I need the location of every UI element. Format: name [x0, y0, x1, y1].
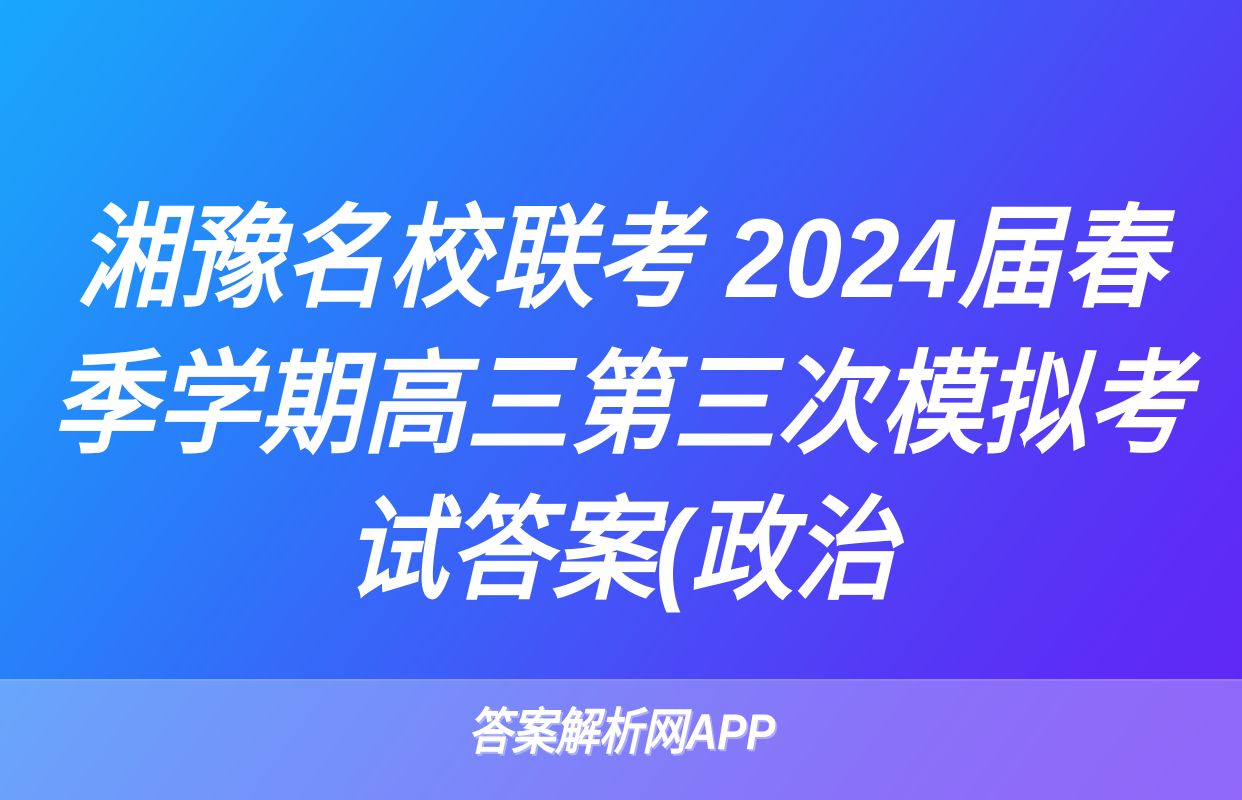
app-watermark: 答案解析网APP [0, 702, 1242, 762]
poster-canvas: 湘豫名校联考 2024届春 季学期高三第三次模拟考 试答案(政治 答案解析网AP… [0, 0, 1242, 800]
poster-title-line-1: 湘豫名校联考 2024届春 [50, 186, 1193, 332]
poster-title-line-2: 季学期高三第三次模拟考 [50, 332, 1193, 478]
poster-title-line-3: 试答案(政治 [50, 478, 1193, 624]
poster-title: 湘豫名校联考 2024届春 季学期高三第三次模拟考 试答案(政治 [0, 186, 1242, 624]
app-watermark-label: 答案解析网APP [468, 702, 775, 762]
